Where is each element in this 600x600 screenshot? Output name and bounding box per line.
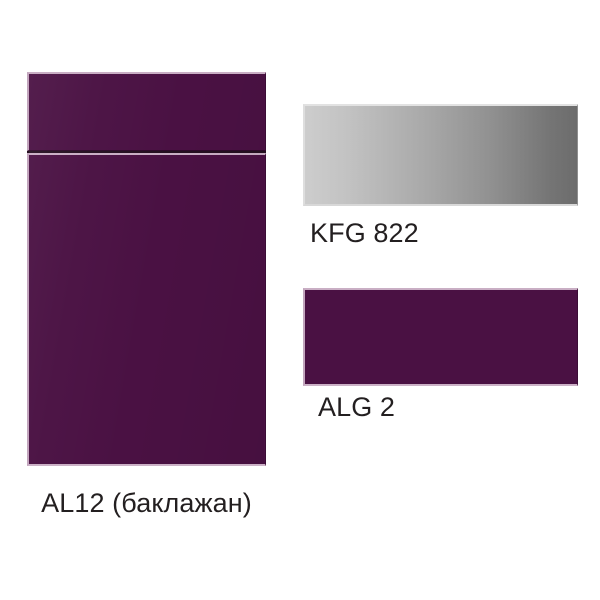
cabinet-door-caption: AL12 (баклажан) xyxy=(27,490,266,517)
door-front-panel xyxy=(27,153,266,466)
purple-swatch[interactable] xyxy=(303,288,578,386)
gray-swatch-caption: KFG 822 xyxy=(310,220,419,247)
purple-swatch-caption: ALG 2 xyxy=(318,394,395,421)
gray-gradient-swatch[interactable] xyxy=(303,104,578,206)
color-sample-board: AL12 (баклажан) KFG 822 ALG 2 xyxy=(0,0,600,600)
cabinet-door-sample[interactable] xyxy=(27,72,266,466)
drawer-front-panel xyxy=(27,72,266,151)
